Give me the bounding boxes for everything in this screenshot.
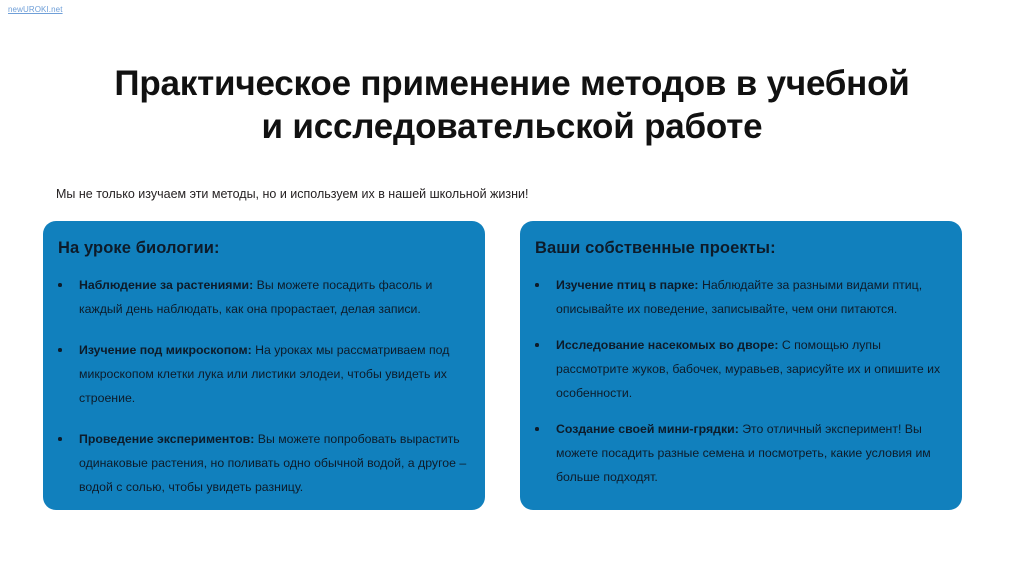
watermark-link[interactable]: newUROKI.net	[8, 5, 63, 15]
card-header-biology: На уроке биологии:	[58, 239, 220, 258]
list-item: Создание своей мини-грядки: Это отличный…	[520, 417, 962, 489]
slide-root: newUROKI.net Практическое применение мет…	[0, 0, 1024, 574]
slide-subtitle: Мы не только изучаем эти методы, но и ис…	[56, 186, 956, 202]
list-item: Проведение экспериментов: Вы можете попр…	[43, 427, 485, 499]
page-title: Практическое применение методов в учебно…	[112, 62, 912, 148]
bullet-dot-icon	[58, 437, 62, 441]
bullet-lead: Проведение экспериментов:	[79, 432, 254, 446]
bullet-lead: Исследование насекомых во дворе:	[556, 338, 778, 352]
bullet-dot-icon	[535, 283, 539, 287]
bullet-lead: Создание своей мини-грядки:	[556, 422, 739, 436]
list-item: Изучение птиц в парке: Наблюдайте за раз…	[520, 273, 962, 321]
card-own-projects: Ваши собственные проекты: Изучение птиц …	[520, 221, 962, 510]
bullet-lead: Изучение птиц в парке:	[556, 278, 699, 292]
card-biology-lesson: На уроке биологии: Наблюдение за растени…	[43, 221, 485, 510]
bullet-dot-icon	[535, 427, 539, 431]
bullet-dot-icon	[535, 343, 539, 347]
bullet-list-projects: Изучение птиц в парке: Наблюдайте за раз…	[520, 273, 962, 501]
bullet-lead: Наблюдение за растениями:	[79, 278, 253, 292]
list-item: Изучение под микроскопом: На уроках мы р…	[43, 338, 485, 410]
bullet-dot-icon	[58, 348, 62, 352]
bullet-list-biology: Наблюдение за растениями: Вы можете поса…	[43, 273, 485, 499]
list-item: Наблюдение за растениями: Вы можете поса…	[43, 273, 485, 321]
card-header-projects: Ваши собственные проекты:	[535, 239, 776, 258]
bullet-dot-icon	[58, 283, 62, 287]
bullet-lead: Изучение под микроскопом:	[79, 343, 252, 357]
list-item: Исследование насекомых во дворе: С помощ…	[520, 333, 962, 405]
